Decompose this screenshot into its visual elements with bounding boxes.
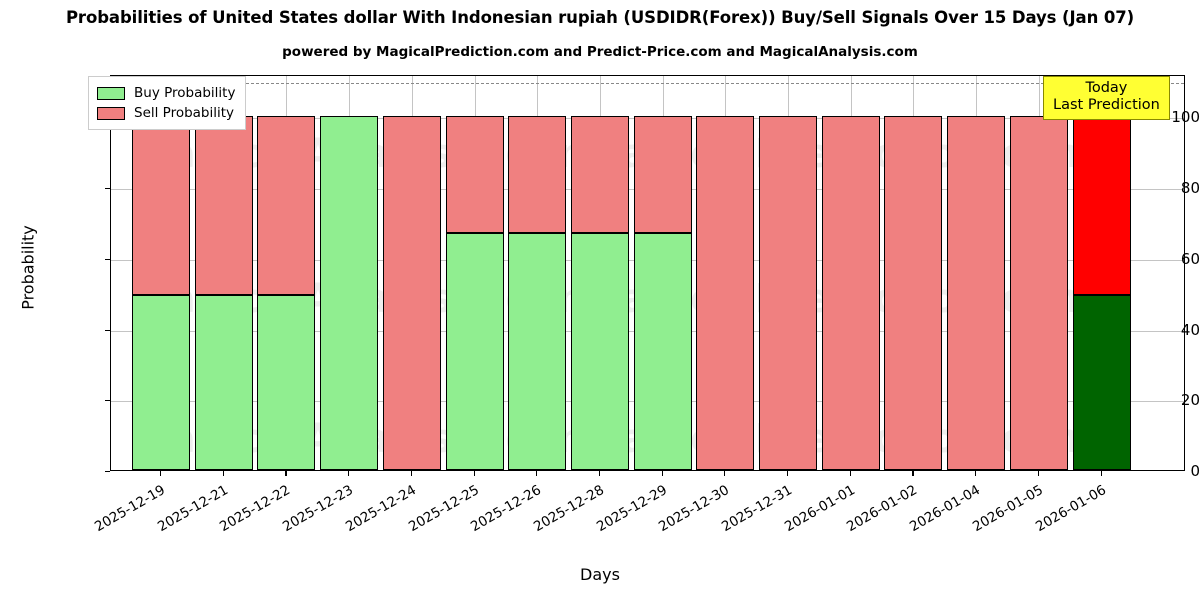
bar[interactable]	[634, 75, 692, 470]
bar-segment-sell	[1010, 116, 1068, 470]
bar[interactable]	[132, 75, 190, 470]
bar-segment-sell	[634, 116, 692, 233]
chart-legend: Buy Probability Sell Probability	[88, 76, 246, 130]
x-axis-tick-mark	[223, 471, 224, 476]
y-axis-tick-mark	[105, 259, 110, 260]
x-axis-tick-mark	[975, 471, 976, 476]
x-axis-tick-mark	[599, 471, 600, 476]
bar[interactable]	[195, 75, 253, 470]
x-axis-tick-mark	[285, 471, 286, 476]
x-axis-tick-mark	[160, 471, 161, 476]
legend-item-sell: Sell Probability	[97, 103, 235, 123]
bar[interactable]	[947, 75, 1005, 470]
bar[interactable]	[508, 75, 566, 470]
x-axis-tick-mark	[474, 471, 475, 476]
bar-segment-sell	[257, 116, 315, 295]
plot-area: MagicalAnalysis.comMagicalPrediction.com…	[110, 75, 1185, 471]
bar-segment-sell	[696, 116, 754, 470]
legend-label-sell: Sell Probability	[134, 105, 234, 121]
y-axis-tick-mark	[105, 400, 110, 401]
bar-segment-sell	[1073, 116, 1131, 295]
x-axis-tick-mark	[1038, 471, 1039, 476]
bar-segment-sell	[195, 116, 253, 295]
bar-segment-buy	[634, 233, 692, 470]
y-axis-title: Probability	[19, 68, 38, 468]
y-axis-tick-mark	[105, 188, 110, 189]
y-axis-tick-label: 80	[1104, 179, 1200, 197]
bar-segment-buy	[257, 295, 315, 470]
bar[interactable]	[383, 75, 441, 470]
y-axis-tick-mark	[105, 330, 110, 331]
page-title: Probabilities of United States dollar Wi…	[0, 8, 1200, 27]
bar[interactable]	[822, 75, 880, 470]
today-annotation-line1: Today	[1053, 80, 1160, 97]
bar-segment-buy	[446, 233, 504, 470]
bar-segment-sell	[446, 116, 504, 233]
bar[interactable]	[446, 75, 504, 470]
bar-segment-sell	[884, 116, 942, 470]
x-axis-tick-mark	[787, 471, 788, 476]
y-axis-tick-label: 60	[1104, 250, 1200, 268]
x-axis-tick-mark	[1101, 471, 1102, 476]
bar-segment-buy	[571, 233, 629, 470]
bar-segment-sell	[132, 116, 190, 295]
chart-subtitle: powered by MagicalPrediction.com and Pre…	[0, 44, 1200, 60]
y-axis-tick-label: 20	[1104, 391, 1200, 409]
x-axis-tick-mark	[348, 471, 349, 476]
x-axis-tick-mark	[912, 471, 913, 476]
bar[interactable]	[696, 75, 754, 470]
bar-segment-sell	[822, 116, 880, 470]
bar-segment-sell	[383, 116, 441, 470]
bar[interactable]	[571, 75, 629, 470]
x-axis-tick-mark	[536, 471, 537, 476]
x-axis-tick-mark	[724, 471, 725, 476]
bar-segment-buy	[508, 233, 566, 470]
today-annotation-line2: Last Prediction	[1053, 97, 1160, 114]
bar-segment-buy	[320, 116, 378, 470]
bar-segment-buy	[195, 295, 253, 470]
x-axis-tick-mark	[850, 471, 851, 476]
x-axis-tick-mark	[662, 471, 663, 476]
y-axis-tick-label: 0	[1104, 462, 1200, 480]
bar-segment-buy	[132, 295, 190, 470]
bar-segment-sell	[759, 116, 817, 470]
x-axis-tick-mark	[411, 471, 412, 476]
bar-segment-sell	[508, 116, 566, 233]
bar[interactable]	[884, 75, 942, 470]
today-annotation: Today Last Prediction	[1043, 76, 1170, 120]
y-axis-tick-label: 40	[1104, 321, 1200, 339]
y-axis-tick-mark	[105, 471, 110, 472]
legend-item-buy: Buy Probability	[97, 83, 235, 103]
legend-swatch-sell	[97, 107, 125, 120]
bar-segment-sell	[571, 116, 629, 233]
bar[interactable]	[1010, 75, 1068, 470]
bar-segment-sell	[947, 116, 1005, 470]
bar[interactable]	[759, 75, 817, 470]
bar[interactable]	[320, 75, 378, 470]
bar[interactable]	[257, 75, 315, 470]
legend-swatch-buy	[97, 87, 125, 100]
bar-today[interactable]	[1073, 75, 1131, 470]
legend-label-buy: Buy Probability	[134, 85, 235, 101]
